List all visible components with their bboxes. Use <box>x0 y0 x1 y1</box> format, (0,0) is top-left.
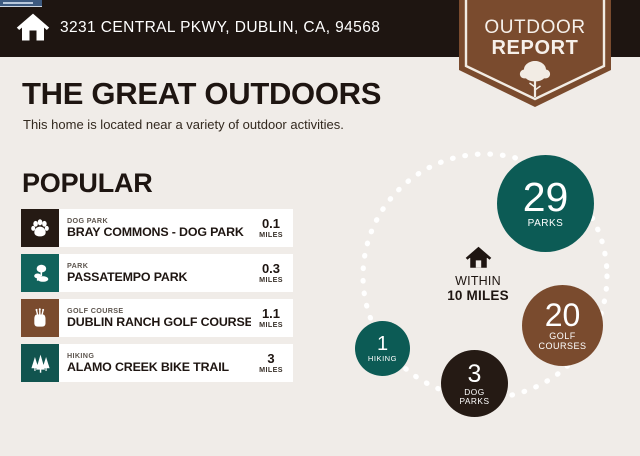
chart-center-label: WITHIN 10 MILES <box>423 246 533 304</box>
list-item-distance: 3 MILES <box>251 344 293 382</box>
list-item-category: DOG PARK <box>67 217 251 225</box>
popular-heading: POPULAR <box>22 168 153 199</box>
bubble-parks[interactable]: 29 PARKS <box>497 155 594 252</box>
distance-unit: MILES <box>259 321 283 330</box>
list-item-name: BRAY COMMONS - DOG PARK <box>67 225 251 239</box>
list-item[interactable]: PARK PASSATEMPO PARK 0.3 MILES <box>21 254 293 292</box>
list-item-distance: 0.1 MILES <box>251 209 293 247</box>
list-item-category: HIKING <box>67 352 251 360</box>
distance-value: 0.1 <box>262 217 280 231</box>
bubble-label-line-2: COURSES <box>538 342 586 352</box>
list-item[interactable]: HIKING ALAMO CREEK BIKE TRAIL 3 MILES <box>21 344 293 382</box>
list-item-name: DUBLIN RANCH GOLF COURSE <box>67 315 251 329</box>
list-item-name: ALAMO CREEK BIKE TRAIL <box>67 360 251 374</box>
distance-value: 0.3 <box>262 262 280 276</box>
distance-unit: MILES <box>259 366 283 375</box>
popular-list: DOG PARK BRAY COMMONS - DOG PARK 0.1 MIL… <box>21 209 293 389</box>
golf-bag-icon <box>21 299 59 337</box>
list-item-category: GOLF COURSE <box>67 307 251 315</box>
distance-unit: MILES <box>259 276 283 285</box>
browser-artifact-line <box>3 2 33 4</box>
list-item[interactable]: GOLF COURSE DUBLIN RANCH GOLF COURSE 1.1… <box>21 299 293 337</box>
page-subtitle: This home is located near a variety of o… <box>23 117 344 132</box>
center-line-2: 10 MILES <box>423 288 533 304</box>
page-title: THE GREAT OUTDOORS <box>22 76 381 112</box>
center-line-1: WITHIN <box>423 274 533 288</box>
home-icon <box>16 13 50 43</box>
outdoor-report-badge: OUTDOOR REPORT <box>459 0 611 108</box>
bubble-value: 20 <box>545 299 581 331</box>
list-item-distance: 1.1 MILES <box>251 299 293 337</box>
distance-unit: MILES <box>259 231 283 240</box>
list-item[interactable]: DOG PARK BRAY COMMONS - DOG PARK 0.1 MIL… <box>21 209 293 247</box>
bubble-value: 3 <box>468 362 482 387</box>
browser-artifact <box>0 0 42 7</box>
bubble-golf-courses[interactable]: 20 GOLF COURSES <box>522 285 603 366</box>
paw-icon <box>21 209 59 247</box>
list-item-category: PARK <box>67 262 251 270</box>
bubble-value: 29 <box>523 177 569 218</box>
property-address: 3231 CENTRAL PKWY, DUBLIN, CA, 94568 <box>60 19 380 37</box>
bubble-label-line-2: PARKS <box>459 397 489 406</box>
bubble-label: PARKS <box>528 219 564 230</box>
bubble-dog-parks[interactable]: 3 DOG PARKS <box>441 350 508 417</box>
bubble-value: 1 <box>377 334 388 354</box>
home-icon <box>465 246 492 270</box>
list-item-distance: 0.3 MILES <box>251 254 293 292</box>
distance-value: 3 <box>267 352 274 366</box>
distance-value: 1.1 <box>262 307 280 321</box>
bubble-label: HIKING <box>368 355 397 363</box>
park-tree-icon <box>21 254 59 292</box>
pine-trees-icon <box>21 344 59 382</box>
bubble-hiking[interactable]: 1 HIKING <box>355 321 410 376</box>
outdoor-bubble-chart: 29 PARKS 20 GOLF COURSES 3 DOG PARKS 1 H… <box>330 146 630 442</box>
list-item-name: PASSATEMPO PARK <box>67 270 251 284</box>
